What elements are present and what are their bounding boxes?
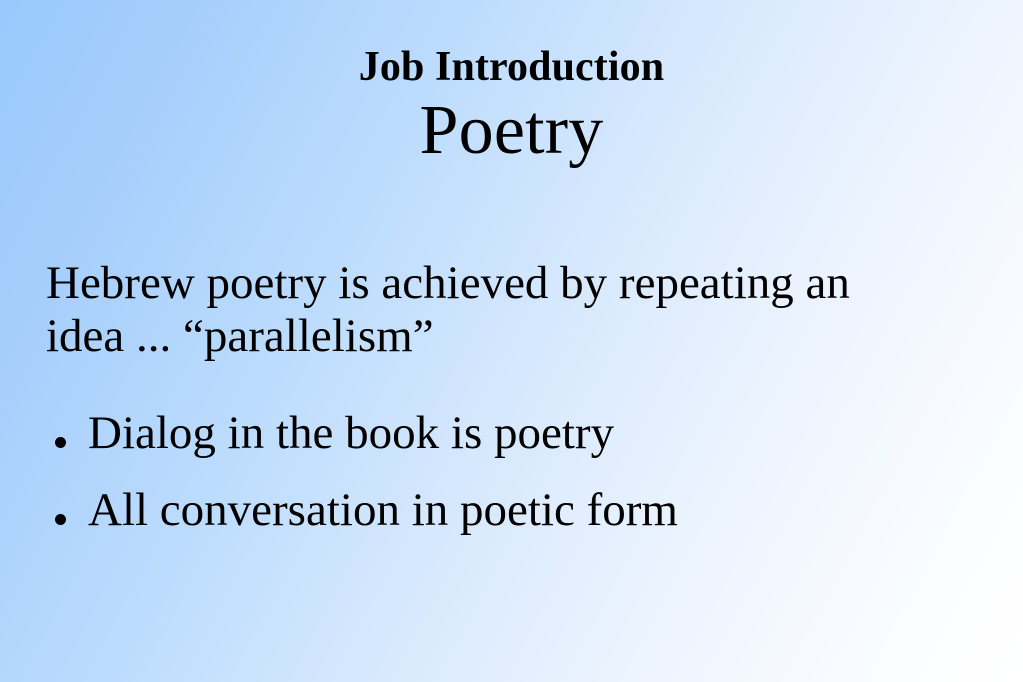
lead-paragraph: Hebrew poetry is achieved by repeating a…: [46, 257, 926, 363]
slide-heading-group: Job Introduction Poetry: [0, 44, 1023, 170]
list-item-label: All conversation in poetic form: [88, 484, 678, 536]
list-item: Dialog in the book is poetry: [46, 406, 946, 461]
slide-subtitle: Poetry: [0, 92, 1023, 170]
bullet-list: Dialog in the book is poetry All convers…: [46, 406, 946, 538]
slide-content-area: Job Introduction Poetry Hebrew poetry is…: [0, 0, 1023, 682]
presentation-slide: Job Introduction Poetry Hebrew poetry is…: [0, 0, 1023, 682]
list-item-label: Dialog in the book is poetry: [88, 407, 614, 459]
bullet-dot-icon: [55, 437, 66, 448]
list-item: All conversation in poetic form: [46, 483, 946, 538]
page-title: Job Introduction: [0, 44, 1023, 90]
bullet-dot-icon: [55, 514, 66, 525]
